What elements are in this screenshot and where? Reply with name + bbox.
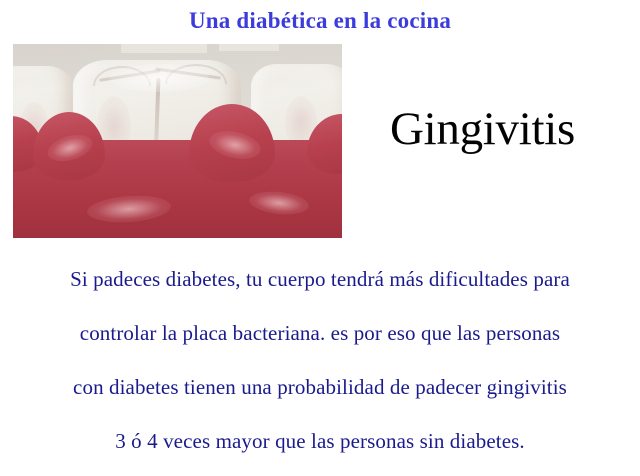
body-text-line: Si padeces diabetes, tu cuerpo tendrá má…	[0, 252, 640, 306]
body-copy: Si padeces diabetes, tu cuerpo tendrá má…	[0, 252, 640, 468]
photo-grain-overlay	[13, 44, 342, 238]
body-text-line: con diabetes tienen una probabilidad de …	[0, 360, 640, 414]
body-text-line: 3 ó 4 veces mayor que las personas sin d…	[0, 414, 640, 468]
condition-heading: Gingivitis	[390, 104, 630, 154]
dental-gingivitis-illustration	[13, 44, 342, 238]
body-text-line: controlar la placa bacteriana. es por es…	[0, 306, 640, 360]
page-title: Una diabética en la cocina	[0, 8, 640, 34]
